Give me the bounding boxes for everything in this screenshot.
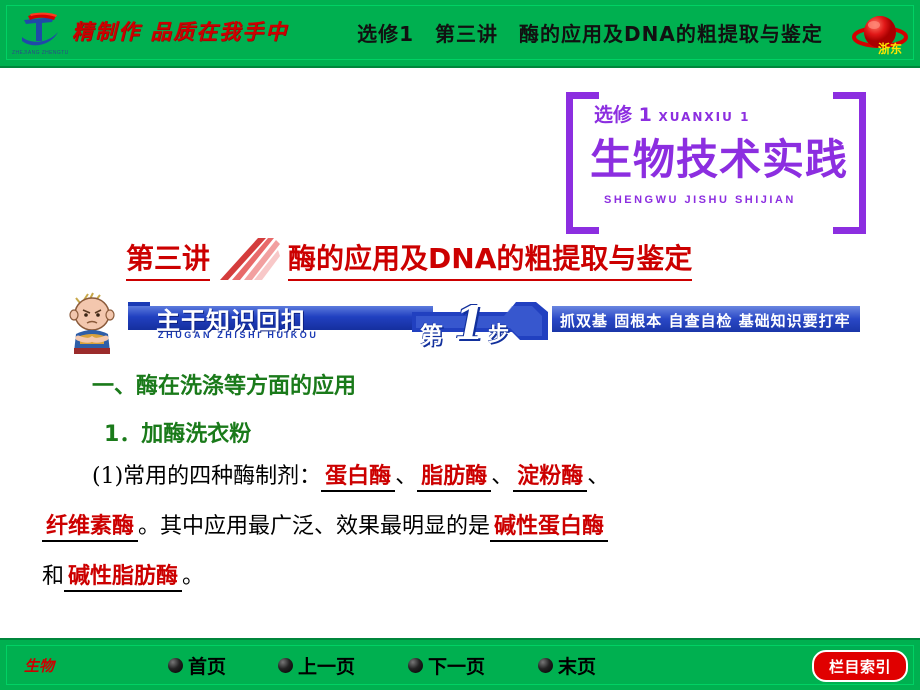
column-index-button[interactable]: 栏目索引 — [812, 650, 908, 682]
sphere-bullet-icon — [408, 658, 423, 673]
course-subtitle-pinyin: XUANXIU 1 — [658, 110, 750, 124]
line1-sep1: 、 — [395, 464, 417, 489]
line3-lead: 和 — [42, 564, 64, 589]
line1-sep2: 、 — [491, 464, 513, 489]
arrow-stripes-icon — [218, 238, 280, 280]
step-prefix: 第 — [420, 316, 443, 350]
nav-first-page-label: 首页 — [188, 652, 226, 679]
answer-protease: 蛋白酶 — [321, 464, 395, 492]
nav-first-page-button[interactable]: 首页 — [168, 652, 226, 679]
header-title: 选修1 第三讲 酶的应用及DNA的粗提取与鉴定 — [340, 18, 840, 47]
sphere-bullet-icon — [538, 658, 553, 673]
banner-heading-pinyin: ZHUGAN ZHISHI HUIKOU — [158, 330, 319, 340]
banner-tagline: 抓双基 固根本 自查自检 基础知识要打牢 — [560, 310, 851, 331]
content-heading-2: 1．加酶洗衣粉 — [104, 416, 251, 448]
step-banner: 主干知识回扣 ZHUGAN ZHISHI HUIKOU 第 1 步 抓双基 固根… — [60, 292, 860, 354]
cartoon-boy-icon — [62, 292, 122, 354]
brand-slogan: 精制作 品质在我手中 — [72, 16, 288, 46]
page-header: ZHEJIANG ZHENGTU 精制作 品质在我手中 选修1 第三讲 酶的应用… — [0, 0, 920, 68]
answer-cellulase: 纤维素酶 — [42, 514, 138, 542]
course-title-box: 选修 1 XUANXIU 1 生物技术实践 SHENGWU JISHU SHIJ… — [566, 92, 866, 220]
nav-last-page-button[interactable]: 末页 — [538, 652, 596, 679]
line3-tail: 。 — [182, 564, 204, 589]
section-title: 酶的应用及DNA的粗提取与鉴定 — [288, 237, 692, 281]
answer-lipase: 脂肪酶 — [417, 464, 491, 492]
sphere-bullet-icon — [278, 658, 293, 673]
nav-prev-page-label: 上一页 — [298, 652, 355, 679]
sphere-bullet-icon — [168, 658, 183, 673]
nav-next-page-label: 下一页 — [428, 652, 485, 679]
answer-alkaline-protease: 碱性蛋白酶 — [490, 514, 608, 542]
course-title-main: 生物技术实践 — [590, 126, 848, 187]
course-title-pinyin: SHENGWU JISHU SHIJIAN — [604, 194, 796, 206]
course-subtitle: 选修 1 XUANXIU 1 — [594, 100, 750, 127]
brand-logo-caption: ZHEJIANG ZHENGTU — [12, 50, 68, 56]
step-number: 1 — [454, 296, 486, 350]
nav-next-page-button[interactable]: 下一页 — [408, 652, 485, 679]
nav-last-page-label: 末页 — [558, 652, 596, 679]
content-line-2: 纤维素酶。其中应用最广泛、效果最明显的是碱性蛋白酶 — [42, 516, 608, 538]
page-footer: 生物 首页 上一页 下一页 末页 — [0, 638, 920, 690]
nav-prev-page-button[interactable]: 上一页 — [278, 652, 355, 679]
section-number: 第三讲 — [126, 237, 210, 281]
brand-logo-icon — [16, 11, 62, 51]
answer-amylase: 淀粉酶 — [513, 464, 587, 492]
planet-logo-label: 浙东 — [878, 40, 902, 57]
answer-alkaline-lipase: 碱性脂肪酶 — [64, 564, 182, 592]
content-line-1: (1)常用的四种酶制剂：蛋白酶、脂肪酶、淀粉酶、 — [92, 466, 609, 488]
content-heading-1: 一、酶在洗涤等方面的应用 — [92, 368, 356, 400]
line1-sep3: 、 — [587, 464, 609, 489]
content-line-3: 和碱性脂肪酶。 — [42, 566, 204, 588]
section-heading: 第三讲 酶的应用及DNA的粗提取与鉴定 — [126, 238, 692, 280]
footer-subject-label: 生物 — [24, 655, 54, 676]
line1-lead: (1)常用的四种酶制剂： — [92, 464, 321, 489]
line2-mid: 。其中应用最广泛、效果最明显的是 — [138, 514, 490, 539]
course-subtitle-cn: 选修 1 — [594, 104, 652, 126]
step-suffix: 步 — [488, 318, 509, 348]
step-number-graphic: 第 1 步 — [412, 294, 552, 348]
column-index-label: 栏目索引 — [829, 656, 891, 677]
